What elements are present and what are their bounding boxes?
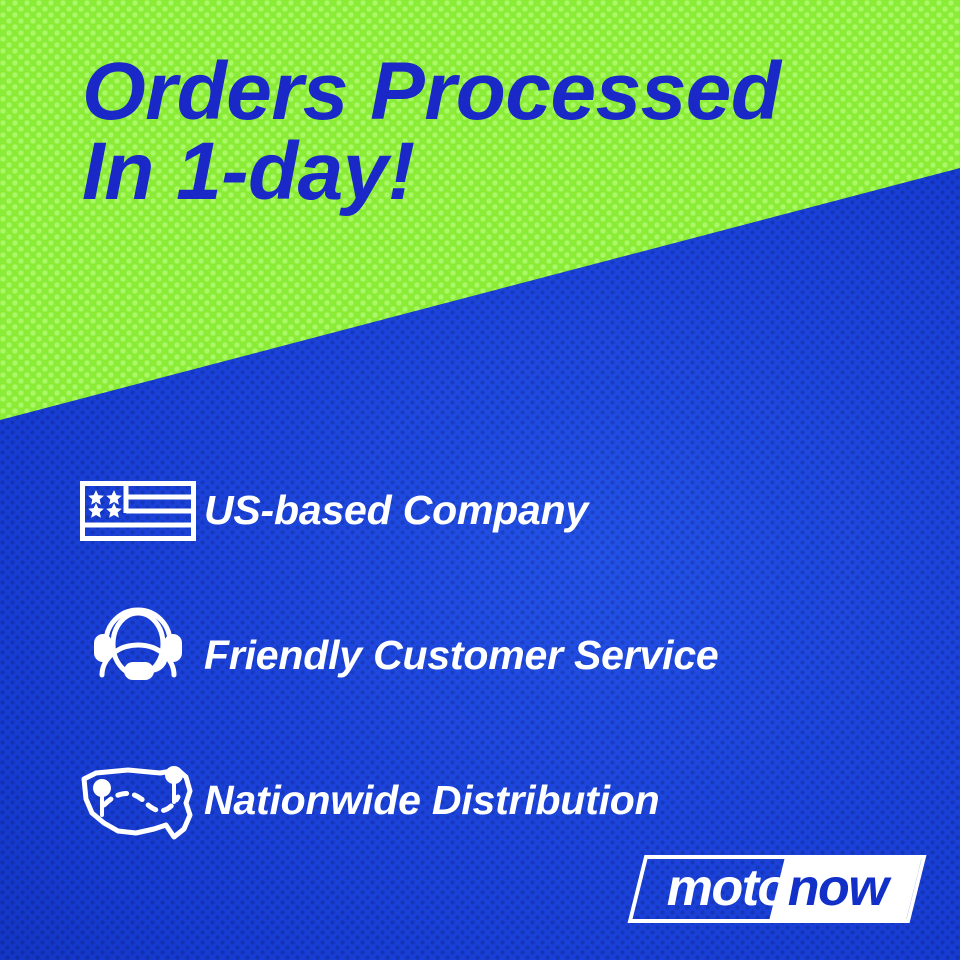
motonow-logo: motonow: [636, 855, 918, 923]
feature-label: Nationwide Distribution: [204, 777, 660, 824]
feature-label: US-based Company: [204, 487, 588, 534]
us-map-route-icon: [72, 757, 204, 845]
logo-moto-text: moto: [667, 862, 788, 914]
headline: Orders Processed In 1-day!: [82, 52, 902, 213]
feature-item: Friendly Customer Service: [72, 583, 932, 728]
logo-now-text: now: [788, 862, 887, 914]
logo-wordmark: motonow: [636, 855, 918, 923]
feature-list: US-based Company: [72, 438, 932, 873]
headset-support-icon: [72, 608, 204, 704]
us-flag-icon: [72, 481, 204, 541]
feature-label: Friendly Customer Service: [204, 632, 719, 679]
promo-banner: Orders Processed In 1-day!: [0, 0, 960, 960]
feature-item: Nationwide Distribution: [72, 728, 932, 873]
feature-item: US-based Company: [72, 438, 932, 583]
